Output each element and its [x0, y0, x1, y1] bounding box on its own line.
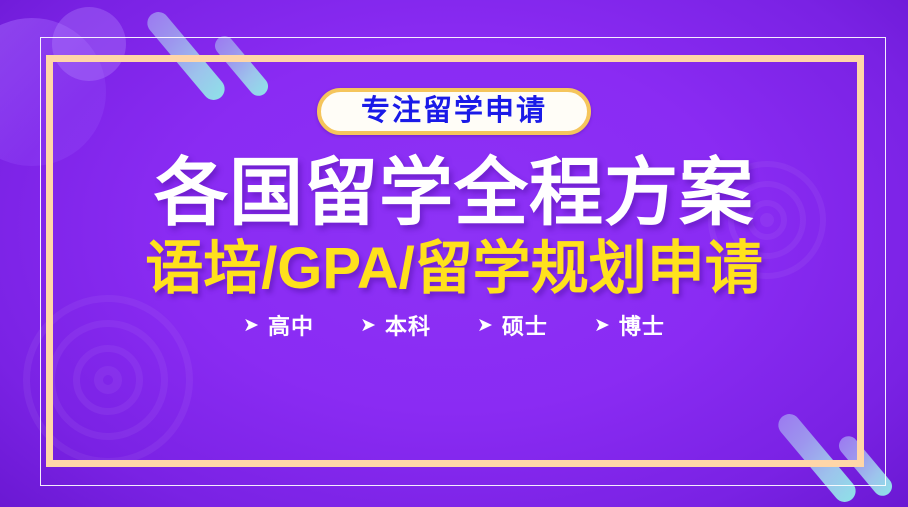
list-item: ➤ 本科: [360, 316, 431, 338]
list-item-label: 本科: [385, 316, 431, 338]
banner-content: 专注留学申请 各国留学全程方案 语培/GPA/留学规划申请 ➤ 高中 ➤ 本科 …: [0, 0, 908, 507]
arrow-right-icon: ➤: [360, 316, 376, 335]
list-item: ➤ 博士: [594, 316, 665, 338]
education-level-list: ➤ 高中 ➤ 本科 ➤ 硕士 ➤ 博士: [243, 316, 665, 338]
study-abroad-promo-banner: 专注留学申请 各国留学全程方案 语培/GPA/留学规划申请 ➤ 高中 ➤ 本科 …: [0, 0, 908, 507]
page-subtitle: 语培/GPA/留学规划申请: [145, 238, 763, 299]
list-item: ➤ 高中: [243, 316, 314, 338]
list-item-label: 高中: [268, 316, 314, 338]
tagline-badge-label: 专注留学申请: [361, 97, 547, 126]
arrow-right-icon: ➤: [243, 316, 259, 335]
arrow-right-icon: ➤: [594, 316, 610, 335]
tagline-badge: 专注留学申请: [317, 88, 591, 135]
list-item: ➤ 硕士: [477, 316, 548, 338]
arrow-right-icon: ➤: [477, 316, 493, 335]
list-item-label: 硕士: [502, 316, 548, 338]
page-title: 各国留学全程方案: [154, 154, 754, 232]
list-item-label: 博士: [619, 316, 665, 338]
